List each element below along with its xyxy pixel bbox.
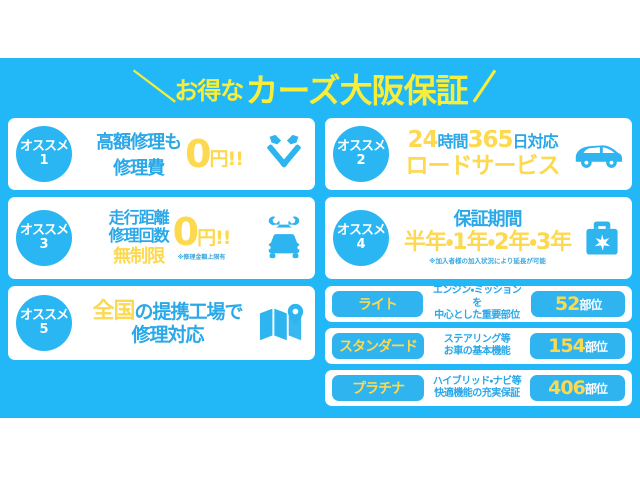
- card-4-note: ※加入者様の加入状況により延長が可能: [404, 258, 571, 265]
- promo-banner-page: ＼ お得な カーズ大阪保証 ／ オススメ 1 高額修理も: [0, 0, 640, 480]
- plan-count-pill: 52部位: [531, 291, 625, 317]
- card-1-amount-unit: 円!!: [210, 144, 243, 171]
- badge-label: オススメ: [20, 309, 68, 323]
- plan-row-standard[interactable]: スタンダード ステアリング等 お車の基本機能 154部位: [325, 328, 632, 364]
- badge-osusume-2: オススメ 2: [333, 126, 389, 182]
- headline: ＼ お得な カーズ大阪保証 ／: [0, 62, 640, 114]
- map-pin-icon: [257, 300, 307, 346]
- badge-osusume-3: オススメ 3: [16, 210, 72, 266]
- card-3-body: 走行距離 修理回数 無制限 0 円!! ※修理金額上限有: [78, 209, 261, 267]
- badge-label: オススメ: [337, 224, 385, 238]
- hammer-tools-icon: [261, 131, 307, 177]
- left-column: オススメ 1 高額修理も 修理費 0 円!!: [8, 118, 315, 406]
- plan-list: ライト エンジン・ミッションを 中心とした重要部位 52部位 スタンダード ステ…: [325, 286, 632, 406]
- slash-left-decoration: ＼: [133, 71, 178, 105]
- card-2-unit-1: 時間: [437, 132, 467, 151]
- card-1-line-1: 高額修理も: [96, 128, 181, 154]
- card-2-unit-2: 日対応: [513, 132, 558, 151]
- plan-desc-line-1: ハイブリッド・ナビ等: [430, 376, 524, 389]
- plan-description: ハイブリッド・ナビ等 快適機能の充実保証: [430, 376, 524, 401]
- toolbox-icon: [580, 216, 624, 260]
- plan-description: エンジン・ミッションを 中心とした重要部位: [429, 285, 526, 323]
- plan-count-unit: 部位: [579, 296, 601, 313]
- plan-desc-line-2: 快適機能の充実保証: [430, 388, 524, 401]
- plan-name-pill: プラチナ: [332, 375, 424, 401]
- headline-main: カーズ大阪保証: [245, 64, 467, 112]
- badge-label: オススメ: [20, 224, 68, 238]
- plan-count-number: 52: [555, 293, 579, 315]
- badge-osusume-5: オススメ 5: [16, 295, 72, 351]
- plan-count-unit: 部位: [585, 338, 607, 355]
- card-2-body: 24時間365日対応 ロードサービス: [395, 128, 570, 180]
- wrench-car-icon: [261, 213, 307, 263]
- card-1-amount: 0: [185, 137, 209, 171]
- card-3-line-2: 修理回数: [109, 227, 169, 245]
- plan-count-number: 154: [548, 335, 585, 357]
- badge-label: オススメ: [20, 140, 68, 154]
- card-4-line-1: 保証期間: [404, 210, 571, 230]
- plan-count-pill: 406部位: [530, 375, 625, 401]
- plan-desc-line-2: お車の基本機能: [430, 346, 524, 359]
- card-4-line-2: 半年・1年・2年・3年: [404, 231, 571, 256]
- plan-description: ステアリング等 お車の基本機能: [430, 334, 524, 359]
- grid-row: オススメ 1 高額修理も 修理費 0 円!!: [8, 118, 632, 406]
- plan-count-number: 406: [548, 377, 585, 399]
- card-2-number-2: 365: [468, 127, 513, 153]
- card-2-number-1: 24: [407, 127, 437, 153]
- card-3-line-3: 無制限: [109, 246, 169, 268]
- card-1-line-2: 修理費: [96, 154, 181, 180]
- card-3-note: ※修理金額上限有: [173, 252, 231, 261]
- plan-desc-line-1: ステアリング等: [430, 334, 524, 347]
- plan-count-pill: 154部位: [530, 333, 625, 359]
- right-column: オススメ 2 24時間365日対応 ロードサービス: [325, 118, 632, 406]
- plan-row-platinum[interactable]: プラチナ ハイブリッド・ナビ等 快適機能の充実保証 406部位: [325, 370, 632, 406]
- plan-row-light[interactable]: ライト エンジン・ミッションを 中心とした重要部位 52部位: [325, 286, 632, 322]
- badge-number: 5: [39, 323, 48, 337]
- badge-number: 3: [39, 238, 48, 252]
- feature-card-4[interactable]: オススメ 4 保証期間 半年・1年・2年・3年 ※加入者様の加入状況により延長が…: [325, 197, 632, 279]
- card-4-body: 保証期間 半年・1年・2年・3年 ※加入者様の加入状況により延長が可能: [395, 210, 580, 265]
- cards-grid: オススメ 1 高額修理も 修理費 0 円!!: [8, 118, 632, 413]
- slash-right-decoration: ／: [462, 71, 507, 105]
- badge-number: 1: [39, 154, 48, 168]
- plan-name-pill: ライト: [332, 291, 423, 317]
- plan-desc-line-1: エンジン・ミッションを: [429, 285, 526, 310]
- card-5-line-1-highlight: 全国: [92, 299, 134, 324]
- badge-osusume-4: オススメ 4: [333, 210, 389, 266]
- plan-name-pill: スタンダード: [332, 333, 424, 359]
- card-2-line-2: ロードサービス: [406, 154, 560, 180]
- card-5-line-2: 修理対応: [92, 325, 242, 346]
- feature-card-5[interactable]: オススメ 5 全国の提携工場で 修理対応: [8, 286, 315, 360]
- card-3-amount: 0: [173, 215, 197, 249]
- card-5-line-1-rest: の提携工場で: [135, 301, 243, 323]
- badge-number: 4: [356, 238, 365, 252]
- card-5-body: 全国の提携工場で 修理対応: [78, 300, 257, 346]
- card-3-amount-unit: 円!!: [197, 223, 230, 250]
- plan-count-unit: 部位: [585, 380, 607, 397]
- card-3-line-1: 走行距離: [109, 209, 169, 227]
- car-side-icon: [570, 134, 624, 174]
- card-1-body: 高額修理も 修理費 0 円!!: [78, 128, 261, 180]
- feature-card-1[interactable]: オススメ 1 高額修理も 修理費 0 円!!: [8, 118, 315, 190]
- plan-desc-line-2: 中心とした重要部位: [429, 310, 526, 323]
- headline-prefix: お得な: [172, 71, 245, 106]
- badge-label: オススメ: [337, 140, 385, 154]
- badge-number: 2: [356, 154, 365, 168]
- feature-card-2[interactable]: オススメ 2 24時間365日対応 ロードサービス: [325, 118, 632, 190]
- feature-card-3[interactable]: オススメ 3 走行距離 修理回数 無制限 0: [8, 197, 315, 279]
- badge-osusume-1: オススメ 1: [16, 126, 72, 182]
